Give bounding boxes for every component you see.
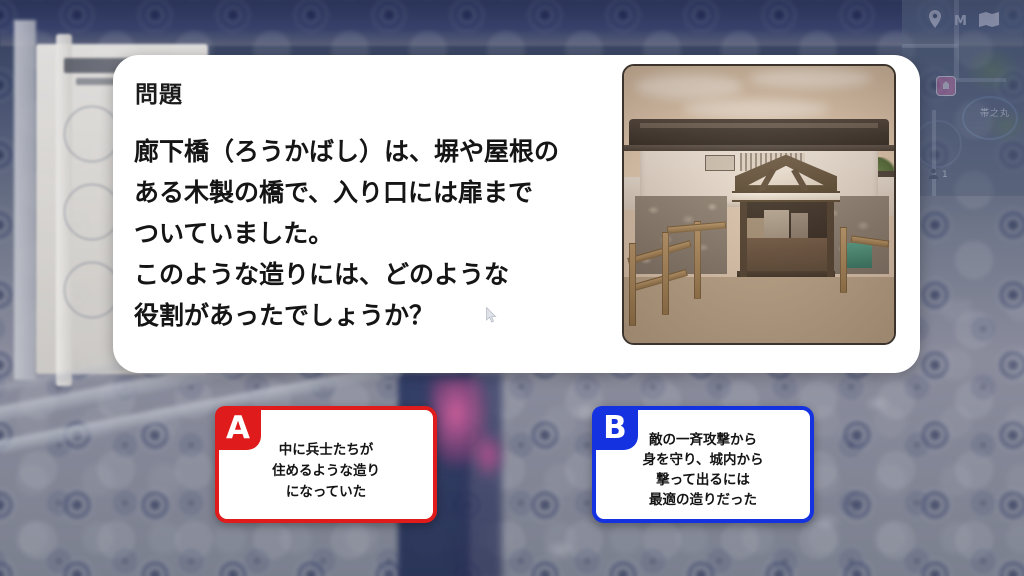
photo-gate-post-right (827, 191, 834, 277)
photo-roof-eave (624, 145, 894, 151)
question-body-text: 廊下橋（ろうかばし）は、塀や屋根の ある木製の橋で、入り口には扉まで ついていま… (134, 131, 634, 336)
signboard-stamp-slot (64, 106, 120, 162)
player-avatar-icon (928, 168, 939, 182)
answer-option-b[interactable]: B 敵の一斉攻撃から 身を守り、城内から 撃って出るには 最適の造りだった (592, 406, 814, 523)
question-card: 問題 廊下橋（ろうかばし）は、塀や屋根の ある木製の橋で、入り口には扉まで つい… (113, 55, 920, 373)
minimap-road (902, 44, 958, 48)
photo-cloud (683, 99, 829, 118)
photo-fence-post (840, 227, 847, 293)
answer-a-text: 中に兵士たちが 住めるような造り になっていた (262, 440, 390, 503)
signboard-stamp-slot (64, 262, 120, 318)
location-pin-icon[interactable] (928, 10, 942, 32)
minimap-quest-marker-icon[interactable] (936, 76, 956, 96)
photo-fence-post (629, 243, 636, 326)
map-key-hint: M (954, 14, 967, 29)
minimap-player-count: 1 (928, 168, 948, 182)
photo-window (705, 155, 735, 172)
minimap-top-icons: M (928, 8, 1020, 34)
player-count-value: 1 (942, 170, 948, 180)
question-title: 問題 (135, 75, 183, 109)
signboard-stamp-slot (64, 184, 120, 240)
answer-b-badge: B (592, 406, 638, 450)
answer-a-badge: A (215, 406, 261, 450)
photo-stone-wall-left (635, 196, 727, 274)
background-pole (14, 20, 36, 380)
photo-porch-lintel (732, 191, 840, 202)
minimap-place-label: 帯之丸 (980, 106, 1010, 119)
map-book-icon[interactable] (979, 12, 999, 31)
photo-cloud (748, 69, 872, 88)
photo-cloud (635, 74, 743, 99)
photo-fence-post (694, 221, 701, 299)
question-photo (622, 64, 896, 345)
photo-fence-post (662, 232, 669, 315)
minimap-road (954, 78, 1006, 82)
mouse-pointer-icon (486, 307, 498, 324)
answer-option-a[interactable]: A 中に兵士たちが 住めるような造り になっていた (215, 406, 437, 523)
answer-b-text: 敵の一斉攻撃から 身を守り、城内から 撃って出るには 最適の造りだった (633, 430, 774, 510)
minimap-moat (914, 120, 962, 168)
photo-roof-ridge (640, 123, 878, 129)
photo-green-tarp (845, 243, 872, 268)
photo-gate-post-left (740, 191, 747, 277)
minimap-hud[interactable]: M 帯之丸 1 (902, 0, 1024, 196)
